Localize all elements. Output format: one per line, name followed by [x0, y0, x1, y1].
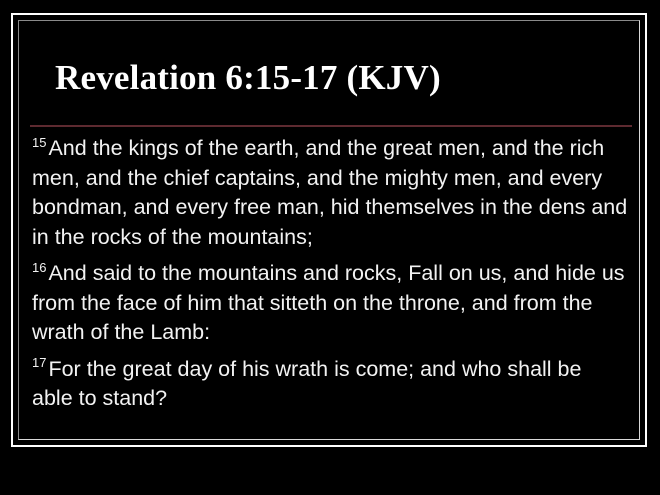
- verse-text: And said to the mountains and rocks, Fal…: [32, 261, 625, 344]
- verse-text: And the kings of the earth, and the grea…: [32, 136, 627, 249]
- verse-number: 16: [32, 260, 48, 275]
- presentation-slide: Revelation 6:15-17 (KJV) 15And the kings…: [0, 0, 660, 495]
- slide-title: Revelation 6:15-17 (KJV): [55, 58, 626, 98]
- slide-content-area: Revelation 6:15-17 (KJV) 15And the kings…: [22, 24, 636, 436]
- scripture-body: 15And the kings of the earth, and the gr…: [32, 134, 628, 414]
- title-divider-rule: [30, 125, 632, 127]
- verse-paragraph: 17For the great day of his wrath is come…: [32, 355, 628, 414]
- verse-number: 15: [32, 135, 48, 150]
- verse-number: 17: [32, 355, 48, 370]
- verse-text: For the great day of his wrath is come; …: [32, 357, 581, 411]
- verse-paragraph: 16And said to the mountains and rocks, F…: [32, 259, 628, 348]
- verse-paragraph: 15And the kings of the earth, and the gr…: [32, 134, 628, 252]
